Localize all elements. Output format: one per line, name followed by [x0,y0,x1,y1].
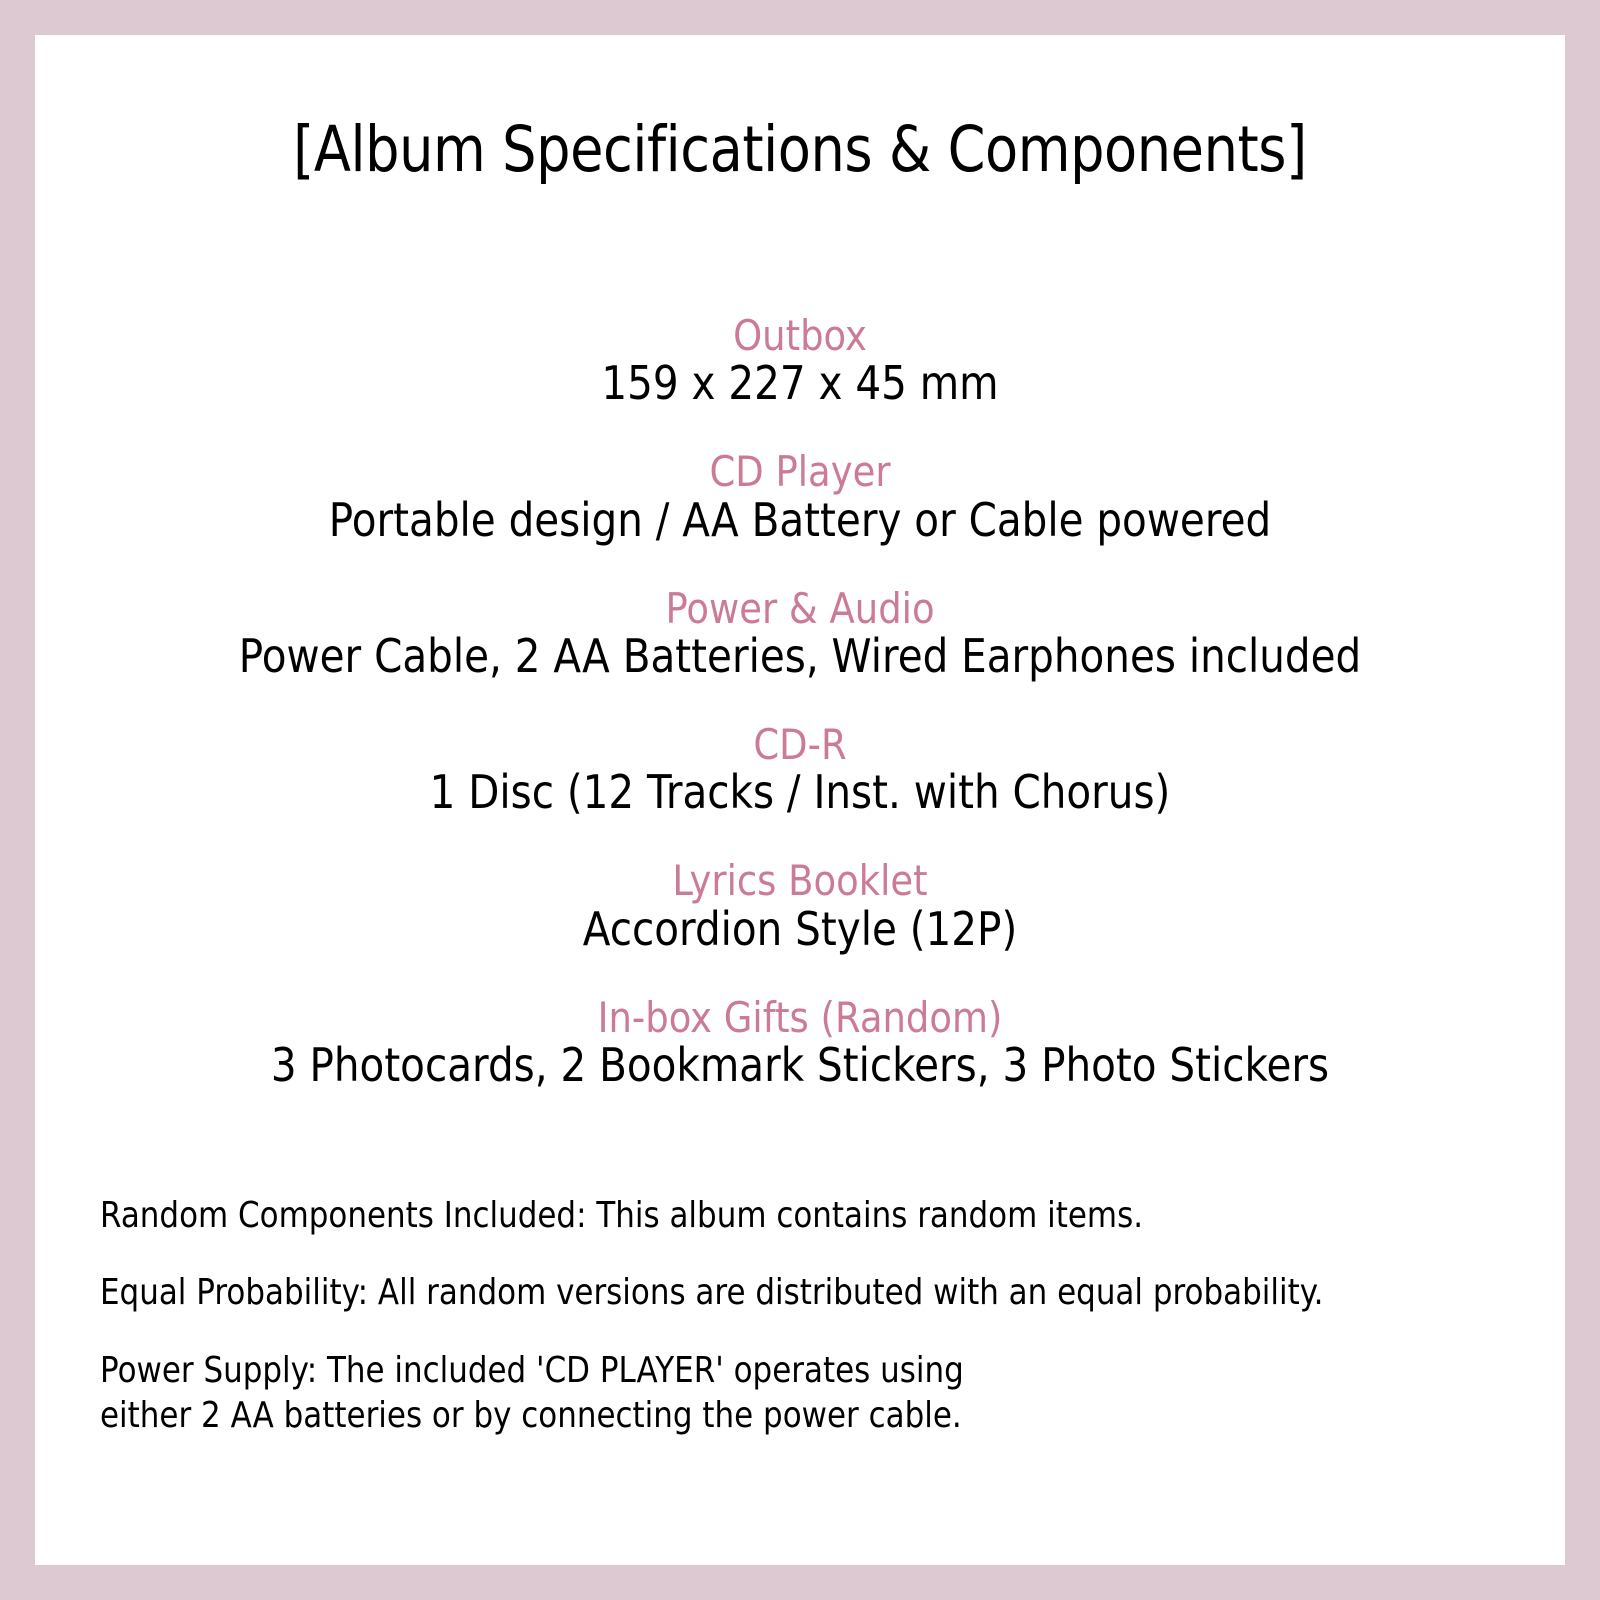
note-random-components: Random Components Included: This album c… [100,1193,1334,1238]
spec-heading: Power & Audio [127,586,1473,631]
spec-item-power-audio: Power & Audio Power Cable, 2 AA Batterie… [35,586,1565,683]
spec-value: 159 x 227 x 45 mm [127,358,1473,410]
notes-section: Random Components Included: This album c… [100,1193,1535,1438]
spec-heading: CD-R [127,722,1473,767]
page-title: [Album Specifications & Components] [142,113,1458,186]
spec-heading: Lyrics Booklet [127,858,1473,903]
content-panel: [Album Specifications & Components] Outb… [35,35,1565,1565]
note-power-supply: Power Supply: The included 'CD PLAYER' o… [100,1348,1334,1439]
spec-heading: Outbox [127,313,1473,358]
spec-value: 1 Disc (12 Tracks / Inst. with Chorus) [127,767,1473,819]
decorative-border-frame: [Album Specifications & Components] Outb… [0,0,1600,1600]
spec-item-cd-r: CD-R 1 Disc (12 Tracks / Inst. with Chor… [35,722,1565,819]
spec-item-cd-player: CD Player Portable design / AA Battery o… [35,449,1565,546]
spec-item-in-box-gifts: In-box Gifts (Random) 3 Photocards, 2 Bo… [35,995,1565,1092]
spec-item-lyrics-booklet: Lyrics Booklet Accordion Style (12P) [35,858,1565,955]
note-equal-probability: Equal Probability: All random versions a… [100,1270,1334,1315]
spec-value: 3 Photocards, 2 Bookmark Stickers, 3 Pho… [127,1040,1473,1092]
spec-value: Power Cable, 2 AA Batteries, Wired Earph… [127,631,1473,683]
spec-item-outbox: Outbox 159 x 227 x 45 mm [35,313,1565,410]
spec-heading: CD Player [127,449,1473,494]
spec-heading: In-box Gifts (Random) [127,995,1473,1040]
spec-value: Accordion Style (12P) [127,904,1473,956]
spec-value: Portable design / AA Battery or Cable po… [127,495,1473,547]
specifications-list: Outbox 159 x 227 x 45 mm CD Player Porta… [35,313,1565,1092]
